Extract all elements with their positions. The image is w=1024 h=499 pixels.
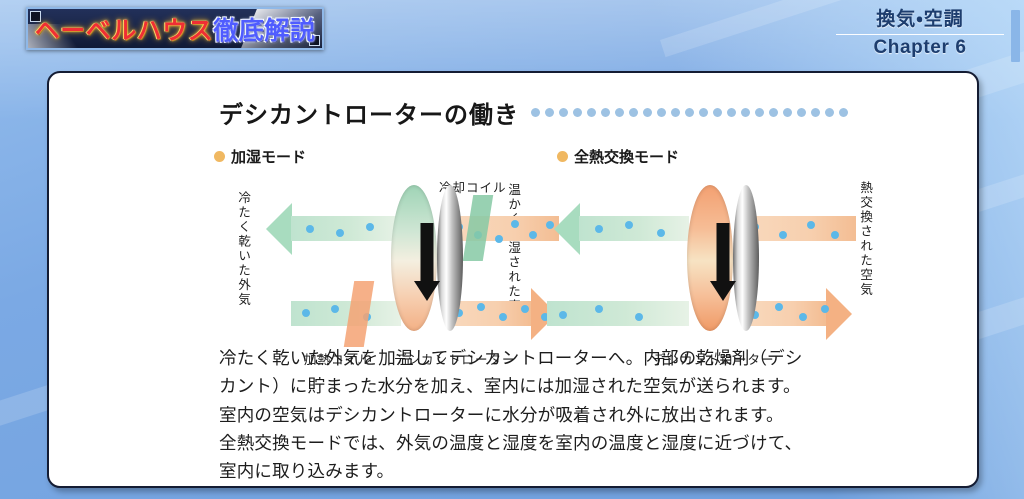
mode-header-humidify: 加湿モード bbox=[214, 146, 306, 167]
arrow-exhaust-out bbox=[554, 203, 580, 255]
title-dot bbox=[531, 108, 540, 117]
title-dot bbox=[727, 108, 736, 117]
title-dot bbox=[755, 108, 764, 117]
title-dot bbox=[657, 108, 666, 117]
title-dot bbox=[783, 108, 792, 117]
moisture-dot bbox=[595, 305, 603, 313]
rotation-arrow-shaft bbox=[421, 223, 434, 281]
moisture-dot bbox=[302, 309, 310, 317]
moisture-dot bbox=[635, 313, 643, 321]
moisture-dot bbox=[521, 305, 529, 313]
section-title-row: デシカントローターの働き bbox=[219, 95, 848, 130]
desiccant-rotor-heat-exchange bbox=[687, 185, 759, 331]
moisture-dot bbox=[477, 303, 485, 311]
moisture-dot bbox=[336, 229, 344, 237]
moisture-dot bbox=[366, 223, 374, 231]
chapter-number: Chapter 6 bbox=[830, 37, 1010, 59]
moisture-dot bbox=[306, 225, 314, 233]
body-line: カント）に貯まった水分を加え、室内には加湿された空気が送られます。 bbox=[219, 373, 919, 401]
title-dot bbox=[699, 108, 708, 117]
title-dot bbox=[797, 108, 806, 117]
chapter-category: 換気・空調 bbox=[830, 4, 1010, 31]
arrow-cool-dry-out bbox=[266, 203, 292, 255]
title-dot bbox=[601, 108, 610, 117]
title-dot bbox=[573, 108, 582, 117]
title-dot bbox=[741, 108, 750, 117]
body-description: 冷たく乾いた外気を加温してデシカントローターへ。内部の乾燥剤（デシカント）に貯ま… bbox=[219, 345, 919, 487]
mode-label-total-heat-exchange: 全熱交換モード bbox=[574, 146, 679, 167]
chapter-badge: 換気・空調 Chapter 6 bbox=[830, 4, 1010, 59]
title-dot bbox=[839, 108, 848, 117]
rotor-rim bbox=[437, 185, 463, 331]
moisture-dot bbox=[559, 311, 567, 319]
moisture-dot bbox=[499, 313, 507, 321]
moisture-dot bbox=[821, 305, 829, 313]
moisture-dot bbox=[595, 225, 603, 233]
title-dot bbox=[685, 108, 694, 117]
page-title: デシカントローターの働き bbox=[219, 95, 519, 130]
moisture-dot bbox=[779, 231, 787, 239]
title-dot bbox=[587, 108, 596, 117]
label-outside-air: 冷たく乾いた外気 bbox=[237, 191, 250, 331]
moisture-dot bbox=[657, 229, 665, 237]
body-line: 室内の空気はデシカントローターに水分が吸着され外に放出されます。 bbox=[219, 402, 919, 430]
title-dot bbox=[671, 108, 680, 117]
moisture-dot bbox=[331, 305, 339, 313]
title-dotted-rule bbox=[531, 108, 848, 117]
moisture-dot bbox=[775, 303, 783, 311]
program-title-banner: ヘーベルハウス徹底解説 bbox=[26, 7, 324, 50]
title-dot bbox=[811, 108, 820, 117]
moisture-dot bbox=[807, 221, 815, 229]
banner-text-subject: 徹底解説 bbox=[213, 11, 315, 47]
title-dot bbox=[629, 108, 638, 117]
content-card: デシカントローターの働き 加湿モード 全熱交換モード 冷たく乾いた外気 冷却コイ… bbox=[47, 71, 979, 488]
rotation-arrow-head bbox=[710, 281, 736, 301]
title-dot bbox=[545, 108, 554, 117]
moisture-dot bbox=[799, 313, 807, 321]
body-line: 冷たく乾いた外気を加温してデシカントローターへ。内部の乾燥剤（デシ bbox=[219, 345, 919, 373]
bullet-icon bbox=[214, 151, 225, 162]
chapter-divider bbox=[836, 34, 1004, 35]
mode-label-humidify: 加湿モード bbox=[231, 146, 306, 167]
rotor-rim bbox=[733, 185, 759, 331]
rotation-arrow-shaft bbox=[717, 223, 730, 281]
title-dot bbox=[559, 108, 568, 117]
title-dot bbox=[615, 108, 624, 117]
banner-text-brand: ヘーベルハウス bbox=[35, 11, 214, 47]
moisture-dot bbox=[831, 231, 839, 239]
arrow-supply-in bbox=[826, 288, 852, 340]
moisture-dot bbox=[495, 235, 503, 243]
flow-band-intake bbox=[744, 216, 856, 241]
body-line: 全熱交換モードでは、外気の温度と湿度を室内の温度と湿度に近づけて、 bbox=[219, 430, 919, 458]
moisture-dot bbox=[511, 220, 519, 228]
title-dot bbox=[769, 108, 778, 117]
banner-text: ヘーベルハウス徹底解説 bbox=[28, 9, 322, 48]
title-dot bbox=[643, 108, 652, 117]
bullet-icon bbox=[557, 151, 568, 162]
label-heat-exchanged-air: 熱交換された空気 bbox=[859, 181, 872, 341]
flow-band-room-air bbox=[547, 301, 689, 326]
chapter-accent-bar bbox=[1011, 10, 1020, 62]
desiccant-rotor-humidify bbox=[391, 185, 463, 331]
moisture-dot bbox=[625, 221, 633, 229]
title-dot bbox=[825, 108, 834, 117]
mode-header-total-heat-exchange: 全熱交換モード bbox=[557, 146, 679, 167]
body-line: 室内に取り込みます。 bbox=[219, 458, 919, 486]
title-dot bbox=[713, 108, 722, 117]
rotation-arrow-head bbox=[414, 281, 440, 301]
